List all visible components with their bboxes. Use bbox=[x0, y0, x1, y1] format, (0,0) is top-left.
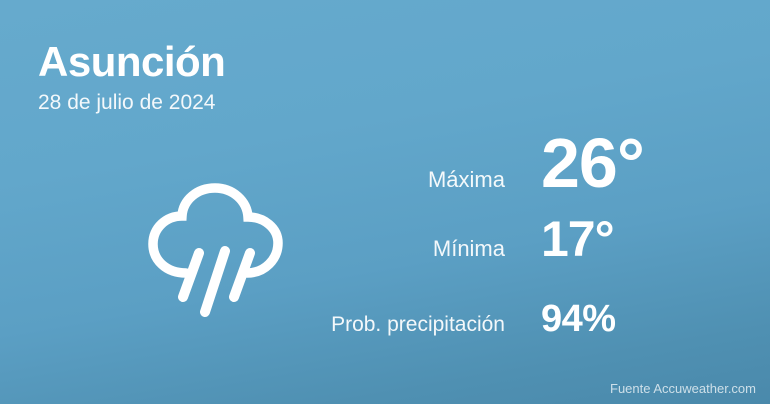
location-header: Asunción 28 de julio de 2024 bbox=[38, 40, 225, 114]
forecast-date: 28 de julio de 2024 bbox=[38, 91, 225, 114]
precipitacion-value: 94% bbox=[505, 300, 616, 338]
city-name: Asunción bbox=[38, 40, 225, 85]
reading-row-maxima: Máxima 26° bbox=[300, 128, 740, 214]
rain-streak-center bbox=[205, 251, 225, 312]
precipitacion-label: Prob. precipitación bbox=[300, 313, 505, 337]
rain-cloud-glyph bbox=[139, 182, 295, 318]
minima-label: Mínima bbox=[300, 236, 505, 262]
minima-value: 17° bbox=[505, 214, 614, 264]
reading-row-precipitacion: Prob. precipitación 94% bbox=[300, 300, 740, 360]
maxima-value: 26° bbox=[505, 128, 644, 198]
readings-list: Máxima 26° Mínima 17° Prob. precipitació… bbox=[300, 128, 740, 360]
weather-card: Asunción 28 de julio de 2024 Máxima 26° … bbox=[0, 0, 770, 404]
maxima-label: Máxima bbox=[300, 167, 505, 193]
reading-row-minima: Mínima 17° bbox=[300, 214, 740, 300]
source-credit: Fuente Accuweather.com bbox=[610, 381, 756, 396]
rain-cloud-icon bbox=[139, 182, 295, 318]
